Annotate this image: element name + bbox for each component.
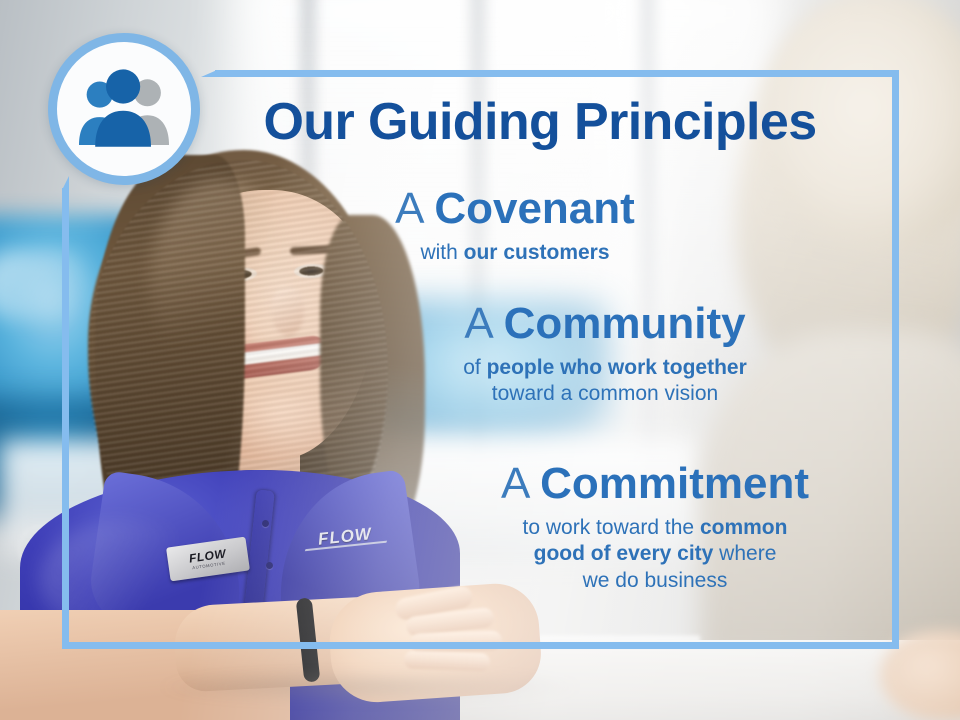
principle-keyword: Commitment xyxy=(540,459,809,508)
principle-article: A xyxy=(464,299,491,348)
principle-subtext-plain: to work toward the xyxy=(523,516,700,539)
principle-subtext-line3: we do business xyxy=(583,569,728,592)
principle-subtext-line2: toward a common vision xyxy=(492,382,718,405)
principle-commitment: A Commitment to work toward the common g… xyxy=(420,460,890,595)
principle-heading: A Covenant xyxy=(300,185,730,233)
page-title: Our Guiding Principles xyxy=(210,96,870,148)
principle-subtext-bold: people who work together xyxy=(487,356,747,379)
principle-subtext-plain: of xyxy=(463,356,486,379)
principle-subtext: with our customers xyxy=(300,240,730,267)
principle-heading: A Community xyxy=(370,300,840,348)
principle-subtext: of people who work together toward a com… xyxy=(370,355,840,409)
principle-article: A xyxy=(501,459,528,508)
principle-article: A xyxy=(395,184,422,233)
principle-community: A Community of people who work together … xyxy=(370,300,840,408)
principle-heading: A Commitment xyxy=(420,460,890,508)
poster-canvas: FLOW AUTOMOTIVE FLOW xyxy=(0,0,960,720)
principle-subtext-plain: with xyxy=(420,241,463,264)
principle-keyword: Community xyxy=(504,299,746,348)
principle-keyword: Covenant xyxy=(434,184,634,233)
principle-subtext-plain-2: where xyxy=(713,542,776,565)
principle-covenant: A Covenant with our customers xyxy=(300,185,730,266)
principle-subtext-bold-2: good of every city xyxy=(534,542,714,565)
principle-subtext-bold: common xyxy=(700,516,788,539)
poster-text-content: Our Guiding Principles A Covenant with o… xyxy=(0,0,960,720)
principle-subtext: to work toward the common good of every … xyxy=(420,515,890,596)
principle-subtext-bold: our customers xyxy=(464,241,610,264)
